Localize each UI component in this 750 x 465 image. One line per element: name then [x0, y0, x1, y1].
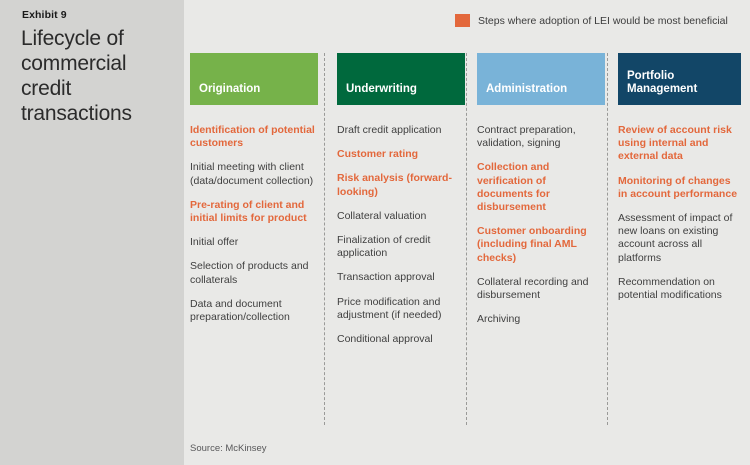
- stage-item: Identification of potential customers: [190, 124, 316, 150]
- stage-header-portfolio-management: Portfolio Management: [618, 53, 741, 105]
- stage-item: Contract preparation, validation, signin…: [477, 124, 603, 150]
- stage-item: Transaction approval: [337, 271, 463, 284]
- exhibit-number-label: Exhibit 9: [22, 9, 67, 21]
- stage-column-administration: Administration Contract preparation, val…: [477, 53, 605, 337]
- stage-items-underwriting: Draft credit application Customer rating…: [337, 105, 465, 346]
- exhibit-title: Lifecycle of commercial credit transacti…: [21, 26, 171, 126]
- stage-header-origination: Origination: [190, 53, 318, 105]
- stage-item: Finalization of credit application: [337, 234, 463, 260]
- legend-label: Steps where adoption of LEI would be mos…: [478, 15, 728, 27]
- stage-item: Recommendation on potential modification…: [618, 276, 740, 302]
- stage-item: Price modification and adjustment (if ne…: [337, 296, 463, 322]
- stage-item: Collection and verification of documents…: [477, 161, 603, 214]
- source-note: Source: McKinsey: [190, 443, 267, 454]
- title-panel: Exhibit 9 Lifecycle of commercial credit…: [0, 0, 184, 465]
- stage-item: Data and document preparation/collection: [190, 298, 316, 324]
- stage-item: Conditional approval: [337, 333, 463, 346]
- stage-item: Collateral valuation: [337, 210, 463, 223]
- stage-item: Draft credit application: [337, 124, 463, 137]
- stage-column-origination: Origination Identification of potential …: [190, 53, 318, 335]
- stage-item: Initial offer: [190, 236, 316, 249]
- stage-item: Review of account risk using internal an…: [618, 124, 740, 164]
- stage-item: Assessment of impact of new loans on exi…: [618, 212, 740, 265]
- stage-item: Collateral recording and disbursement: [477, 276, 603, 302]
- orange-square-swatch-icon: [455, 14, 470, 27]
- stage-item: Pre-rating of client and initial limits …: [190, 199, 316, 225]
- stage-items-administration: Contract preparation, validation, signin…: [477, 105, 605, 326]
- stage-item: Initial meeting with client (data/docume…: [190, 161, 316, 187]
- stage-header-underwriting: Underwriting: [337, 53, 465, 105]
- column-divider-1: [324, 53, 325, 425]
- stage-item: Customer onboarding (including final AML…: [477, 225, 603, 265]
- stage-item: Risk analysis (forward-looking): [337, 172, 463, 198]
- stage-item: Monitoring of changes in account perform…: [618, 175, 740, 201]
- legend: Steps where adoption of LEI would be mos…: [455, 14, 728, 27]
- stage-items-origination: Identification of potential customers In…: [190, 105, 318, 324]
- column-divider-3: [607, 53, 608, 425]
- stage-item: Customer rating: [337, 148, 463, 161]
- stage-item: Selection of products and collaterals: [190, 260, 316, 286]
- exhibit-canvas: Exhibit 9 Lifecycle of commercial credit…: [0, 0, 750, 465]
- stage-column-underwriting: Underwriting Draft credit application Cu…: [337, 53, 465, 357]
- stage-column-portfolio-management: Portfolio Management Review of account r…: [618, 53, 741, 313]
- stage-header-administration: Administration: [477, 53, 605, 105]
- column-divider-2: [466, 53, 467, 425]
- stage-item: Archiving: [477, 313, 603, 326]
- stage-items-portfolio-management: Review of account risk using internal an…: [618, 105, 741, 302]
